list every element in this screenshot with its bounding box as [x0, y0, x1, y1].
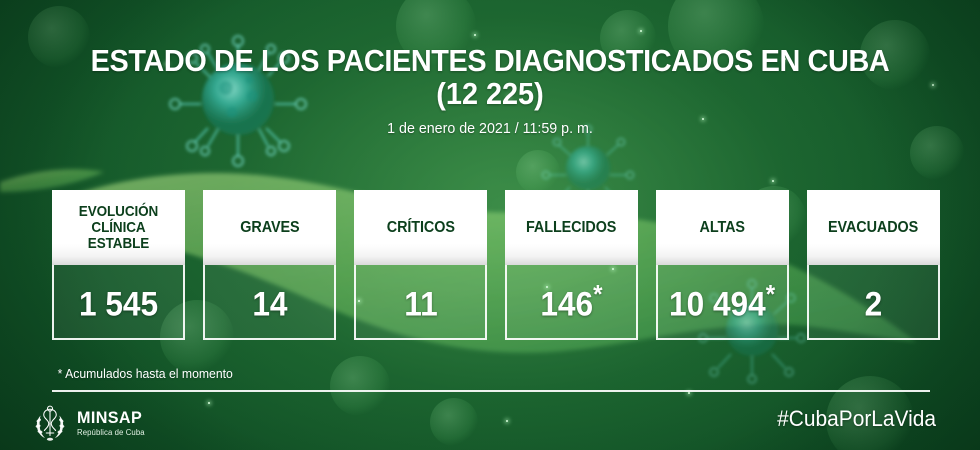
minsap-emblem-icon: [30, 403, 70, 443]
brand-text: MINSAP República de Cuba: [77, 409, 147, 437]
footnote: * Acumulados hasta el momento: [58, 366, 233, 381]
stat-card-header: FALLECIDOS: [505, 190, 638, 265]
total-cases-count: (12 225): [34, 77, 945, 111]
brand-subtitle: República de Cuba: [77, 429, 145, 437]
stat-card-body: 1 545: [52, 265, 185, 340]
footer-divider: [52, 390, 930, 392]
header: ESTADO DE LOS PACIENTES DIAGNOSTICADOS E…: [0, 0, 980, 137]
stat-value-number: 1 545: [79, 285, 158, 323]
stat-card-fallecidos: FALLECIDOS 146*: [505, 190, 638, 340]
stat-value-number: 10 494: [669, 285, 766, 323]
stat-card-header: ALTAS: [656, 190, 789, 265]
stat-card-value: 2: [865, 281, 883, 322]
covid-status-infographic: ESTADO DE LOS PACIENTES DIAGNOSTICADOS E…: [0, 0, 980, 450]
stat-value-asterisk: *: [766, 279, 775, 309]
stat-card-graves: GRAVES 14: [203, 190, 336, 340]
stat-card-label: ALTAS: [700, 219, 745, 236]
stat-card-body: 11: [354, 265, 487, 340]
stat-card-label: CRÍTICOS: [386, 219, 454, 236]
stat-value-number: 2: [865, 285, 883, 323]
stat-value-number: 146: [540, 285, 593, 323]
stat-card-header: EVACUADOS: [807, 190, 940, 265]
brand-name: MINSAP: [77, 409, 143, 426]
stat-card-criticos: CRÍTICOS 11: [354, 190, 487, 340]
stat-card-body: 14: [203, 265, 336, 340]
stat-card-body: 2: [807, 265, 940, 340]
stat-value-number: 11: [404, 285, 437, 323]
stat-card-header: EVOLUCIÓN CLÍNICA ESTABLE: [52, 190, 185, 265]
stat-cards: EVOLUCIÓN CLÍNICA ESTABLE 1 545 GRAVES 1…: [52, 190, 940, 340]
stat-value-asterisk: *: [593, 279, 602, 309]
stat-card-value: 11: [404, 281, 437, 322]
stat-card-header: CRÍTICOS: [354, 190, 487, 265]
stat-card-body: 146*: [505, 265, 638, 340]
stat-card-value: 14: [252, 281, 287, 322]
stat-card-value: 1 545: [79, 281, 158, 322]
stat-card-label: EVACUADOS: [828, 219, 918, 236]
stat-card-evacuados: EVACUADOS 2: [807, 190, 940, 340]
stat-card-label: EVOLUCIÓN CLÍNICA ESTABLE: [62, 204, 175, 252]
stat-card-label: FALLECIDOS: [526, 219, 616, 236]
stat-card-evolucion-clinica-estable: EVOLUCIÓN CLÍNICA ESTABLE 1 545: [52, 190, 185, 340]
stat-card-body: 10 494*: [656, 265, 789, 340]
stat-card-altas: ALTAS 10 494*: [656, 190, 789, 340]
stat-card-value: 10 494*: [669, 281, 775, 322]
minsap-branding: MINSAP República de Cuba: [30, 403, 147, 443]
stat-card-label: GRAVES: [240, 219, 299, 236]
page-title: ESTADO DE LOS PACIENTES DIAGNOSTICADOS E…: [34, 44, 945, 77]
report-timestamp: 1 de enero de 2021 / 11:59 p. m.: [25, 120, 956, 137]
campaign-hashtag: #CubaPorLaVida: [777, 406, 936, 432]
stat-card-header: GRAVES: [203, 190, 336, 265]
stat-value-number: 14: [252, 285, 287, 323]
stat-card-value: 146*: [540, 281, 602, 322]
